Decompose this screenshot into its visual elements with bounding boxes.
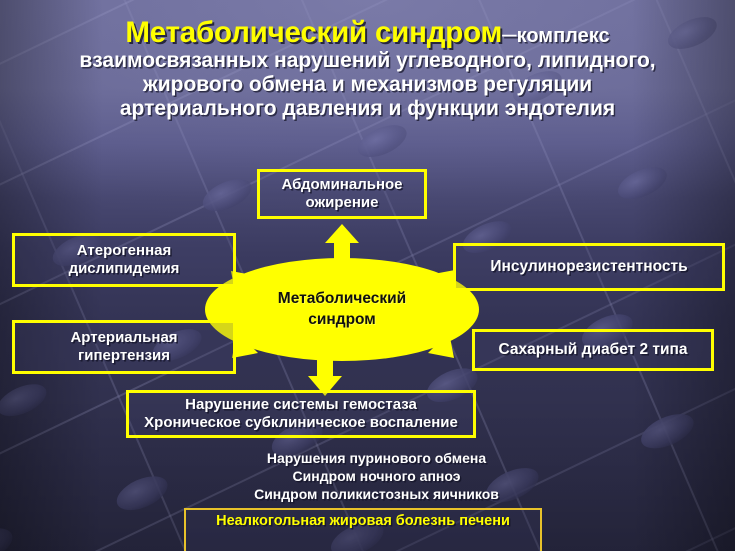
slide-canvas: Метаболический синдром–комплекс взаимосв… — [0, 0, 735, 551]
list-item: Синдром поликистозных яичников — [0, 486, 735, 504]
node-hemostasis-inflammation-line-2: Хроническое субклиническое воспаление — [144, 414, 458, 431]
node-insulin-resistance[interactable]: Инсулинорезистентность — [453, 243, 725, 291]
central-node-line-2: синдром — [308, 310, 376, 330]
node-nafld-label: Неалкогольная жировая болезнь печени — [216, 513, 510, 529]
extra-conditions-list: Нарушения пуринового обмена Синдром ночн… — [0, 450, 735, 503]
node-hemostasis-inflammation[interactable]: Нарушение системы гемостаза Хроническое … — [126, 390, 476, 438]
node-insulin-resistance-label: Инсулинорезистентность — [490, 258, 687, 276]
node-type-2-diabetes[interactable]: Сахарный диабет 2 типа — [472, 329, 714, 371]
node-hemostasis-inflammation-line-1: Нарушение системы гемостаза — [185, 396, 417, 413]
central-node-line-1: Метаболический — [278, 289, 406, 309]
node-atherogenic-dyslipidemia[interactable]: Атерогенная дислипидемия — [12, 233, 236, 287]
node-atherogenic-dyslipidemia-line-2: дислипидемия — [69, 260, 180, 277]
node-arterial-hypertension-label: Артериальная гипертензия — [70, 329, 177, 364]
node-arterial-hypertension[interactable]: Артериальная гипертензия — [12, 320, 236, 374]
node-type-2-diabetes-label: Сахарный диабет 2 типа — [498, 341, 687, 359]
node-atherogenic-dyslipidemia-line-1: Атерогенная — [77, 242, 171, 259]
node-hemostasis-inflammation-label: Нарушение системы гемостаза Хроническое … — [144, 396, 458, 431]
node-atherogenic-dyslipidemia-label: Атерогенная дислипидемия — [69, 242, 180, 277]
node-arterial-hypertension-line-2: гипертензия — [78, 347, 170, 364]
central-node-metabolic-syndrome[interactable]: Метаболический синдром — [205, 258, 479, 361]
node-nafld[interactable]: Неалкогольная жировая болезнь печени — [184, 508, 542, 551]
node-abdominal-obesity-line-1: Абдоминальное — [281, 176, 402, 193]
node-abdominal-obesity-line-2: ожирение — [306, 194, 379, 211]
list-item: Нарушения пуринового обмена — [0, 450, 735, 468]
node-abdominal-obesity[interactable]: Абдоминальное ожирение — [257, 169, 427, 219]
node-arterial-hypertension-line-1: Артериальная — [70, 329, 177, 346]
list-item: Синдром ночного апноэ — [0, 468, 735, 486]
node-abdominal-obesity-label: Абдоминальное ожирение — [281, 176, 402, 211]
